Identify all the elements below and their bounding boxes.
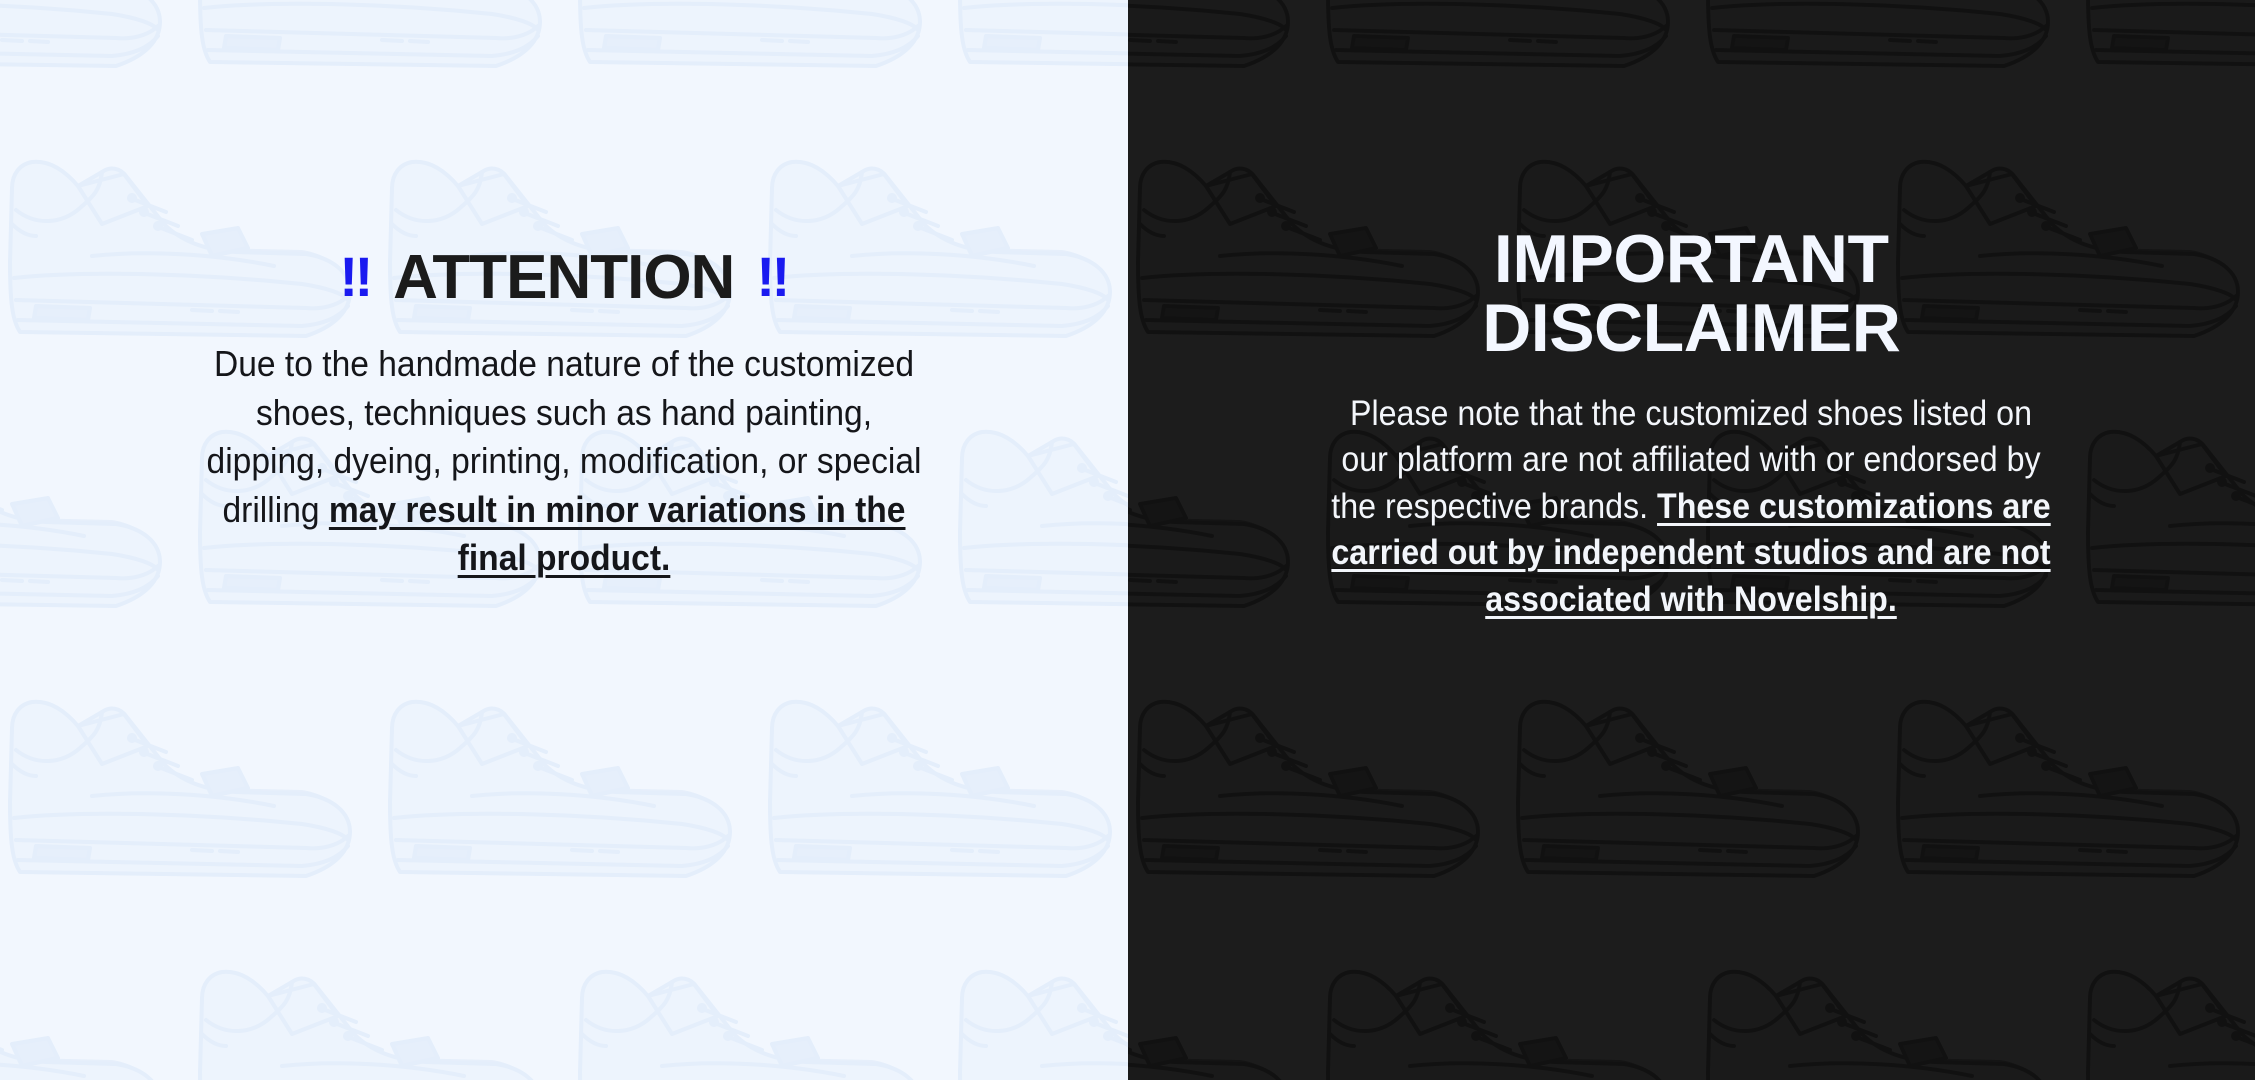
attention-heading-word: ATTENTION xyxy=(393,243,734,312)
attention-body-emphasis: may result in minor variations in the fi… xyxy=(329,489,906,579)
attention-content: ‼ATTENTION‼ Due to the handmade nature o… xyxy=(0,0,1128,583)
disclaimer-banner: ‼ATTENTION‼ Due to the handmade nature o… xyxy=(0,0,2255,1080)
disclaimer-heading-line-2: DISCLAIMER xyxy=(1128,294,2255,363)
double-exclamation-icon-left: ‼ xyxy=(339,245,371,308)
attention-body-text: Due to the handmade nature of the custom… xyxy=(200,340,927,583)
attention-panel: ‼ATTENTION‼ Due to the handmade nature o… xyxy=(0,0,1128,1080)
disclaimer-body-text: Please note that the customized shoes li… xyxy=(1328,391,2055,624)
disclaimer-heading: IMPORTANT DISCLAIMER xyxy=(1128,225,2255,364)
disclaimer-heading-line-1: IMPORTANT xyxy=(1128,225,2255,294)
disclaimer-panel: IMPORTANT DISCLAIMER Please note that th… xyxy=(1128,0,2255,1080)
disclaimer-content: IMPORTANT DISCLAIMER Please note that th… xyxy=(1128,0,2255,623)
attention-heading: ‼ATTENTION‼ xyxy=(0,245,1128,310)
double-exclamation-icon-right: ‼ xyxy=(756,245,788,308)
